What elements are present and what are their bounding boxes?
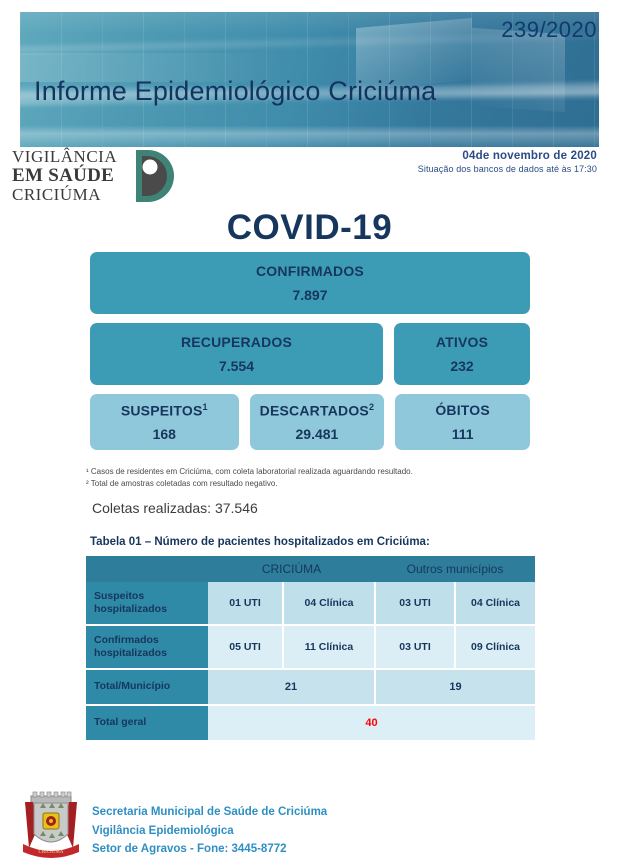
- informe-epidemiologico-page: 239/2020 Informe Epidemiológico Criciúma…: [0, 0, 619, 867]
- footnote-2: ² Total de amostras coletadas com result…: [86, 478, 413, 490]
- stat-row-3: SUSPEITOS1 168 DESCARTADOS2 29.481 ÓBITO…: [90, 394, 530, 450]
- stat-value-confirmados: 7.897: [292, 287, 327, 303]
- stat-value-recuperados: 7.554: [219, 358, 254, 374]
- cell-suspeitos-criciuma-uti: 01 UTI: [208, 582, 283, 625]
- table-row: Total/Município 21 19: [86, 669, 535, 705]
- row-label-total-geral: Total geral: [86, 705, 208, 740]
- table-header-outros: Outros municípios: [375, 556, 535, 582]
- footer-line-2: Vigilância Epidemiológica: [92, 822, 327, 841]
- table-row: Confirmados hospitalizados 05 UTI 11 Clí…: [86, 625, 535, 669]
- stat-value-ativos: 232: [450, 358, 473, 374]
- stat-card-suspeitos: SUSPEITOS1 168: [90, 394, 239, 450]
- stat-label-descartados: DESCARTADOS2: [260, 402, 375, 419]
- stat-label-suspeitos: SUSPEITOS1: [121, 402, 208, 419]
- table-header-criciuma: CRICIÚMA: [208, 556, 375, 582]
- stat-card-descartados: DESCARTADOS2 29.481: [250, 394, 385, 450]
- table-header-blank: [86, 556, 208, 582]
- table-caption: Tabela 01 – Número de pacientes hospital…: [90, 536, 430, 548]
- vigilancia-emblem-icon: [134, 148, 178, 204]
- table-row: Suspeitos hospitalizados 01 UTI 04 Clíni…: [86, 582, 535, 625]
- logo-wordmark: VIGILÂNCIA EM SAÚDE CRICIÚMA: [12, 148, 138, 203]
- footnote-marker-2: 2: [369, 402, 374, 412]
- footnote-marker-1: 1: [203, 402, 208, 412]
- issue-number: 239/2020: [501, 17, 597, 43]
- stat-value-descartados: 29.481: [296, 426, 339, 442]
- logo-line-1: VIGILÂNCIA: [12, 148, 138, 165]
- footnote-1: ¹ Casos de residentes em Criciúma, com c…: [86, 466, 413, 478]
- table-row: Total geral 40: [86, 705, 535, 740]
- stat-card-recuperados: RECUPERADOS 7.554: [90, 323, 383, 385]
- footer-line-3: Setor de Agravos - Fone: 3445-8772: [92, 840, 327, 859]
- cell-total-geral: 40: [208, 705, 535, 740]
- logo-line-3: CRICIÚMA: [12, 186, 138, 203]
- stat-label-ativos: ATIVOS: [436, 334, 488, 350]
- stat-label-recuperados: RECUPERADOS: [181, 334, 292, 350]
- page-title: COVID-19: [0, 208, 619, 248]
- stat-value-suspeitos: 168: [153, 426, 176, 442]
- cell-total-criciuma: 21: [208, 669, 375, 705]
- report-date-block: 04de novembro de 2020 Situação dos banco…: [418, 150, 597, 174]
- row-label-total-municipio: Total/Município: [86, 669, 208, 705]
- statistics-panel: CONFIRMADOS 7.897 RECUPERADOS 7.554 ATIV…: [90, 252, 530, 459]
- criciuma-coat-of-arms-icon: CRICIUMA: [17, 790, 85, 860]
- stat-label-confirmados: CONFIRMADOS: [256, 263, 364, 279]
- stat-row-2: RECUPERADOS 7.554 ATIVOS 232: [90, 323, 530, 385]
- coletas-realizadas: Coletas realizadas: 37.546: [92, 500, 258, 516]
- row-label-confirmados: Confirmados hospitalizados: [86, 625, 208, 669]
- row-label-suspeitos: Suspeitos hospitalizados: [86, 582, 208, 625]
- cell-confirmados-outros-clinica: 09 Clínica: [455, 625, 535, 669]
- cell-total-outros: 19: [375, 669, 535, 705]
- cell-confirmados-criciuma-uti: 05 UTI: [208, 625, 283, 669]
- svg-text:CRICIUMA: CRICIUMA: [38, 850, 63, 855]
- cell-suspeitos-outros-clinica: 04 Clínica: [455, 582, 535, 625]
- footer-contact: Secretaria Municipal de Saúde de Criciúm…: [92, 803, 327, 859]
- cell-confirmados-outros-uti: 03 UTI: [375, 625, 455, 669]
- cell-suspeitos-criciuma-clinica: 04 Clínica: [283, 582, 375, 625]
- cell-confirmados-criciuma-clinica: 11 Clínica: [283, 625, 375, 669]
- report-date: 04de novembro de 2020: [418, 150, 597, 162]
- footnotes: ¹ Casos de residentes em Criciúma, com c…: [86, 466, 413, 491]
- stat-value-obitos: 111: [452, 426, 474, 442]
- stat-row-1: CONFIRMADOS 7.897: [90, 252, 530, 314]
- stat-label-obitos: ÓBITOS: [435, 402, 490, 418]
- stat-card-confirmados: CONFIRMADOS 7.897: [90, 252, 530, 314]
- banner-title: Informe Epidemiológico Criciúma: [34, 76, 436, 107]
- cell-suspeitos-outros-uti: 03 UTI: [375, 582, 455, 625]
- footer-line-1: Secretaria Municipal de Saúde de Criciúm…: [92, 803, 327, 822]
- hospitalization-table: CRICIÚMA Outros municípios Suspeitos hos…: [86, 556, 535, 740]
- stat-card-obitos: ÓBITOS 111: [395, 394, 530, 450]
- stat-card-ativos: ATIVOS 232: [394, 323, 530, 385]
- vigilancia-logo: VIGILÂNCIA EM SAÚDE CRICIÚMA: [12, 148, 187, 204]
- logo-line-2: EM SAÚDE: [12, 166, 138, 185]
- table-header-row: CRICIÚMA Outros municípios: [86, 556, 535, 582]
- report-date-note: Situação dos bancos de dados até às 17:3…: [418, 164, 597, 174]
